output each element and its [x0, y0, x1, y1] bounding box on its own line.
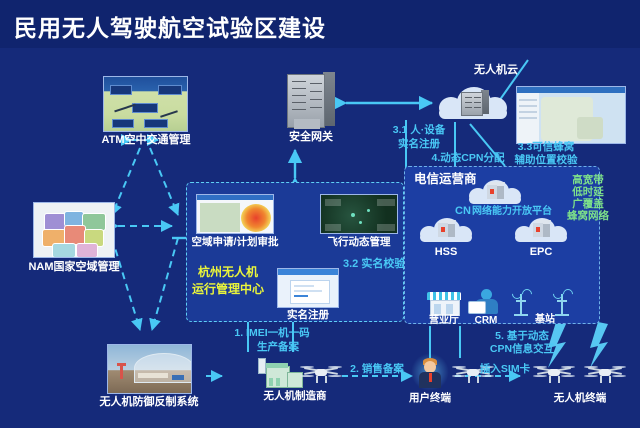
label-flight-dynamic: 飞行动态管理: [328, 236, 391, 248]
airspace-apply-thumbnail: [196, 194, 274, 234]
diagram-canvas: 民用无人驾驶航空试验区建设: [0, 0, 640, 428]
flight-dynamic-thumbnail: [320, 194, 398, 234]
label-feature-2: 低时延: [572, 186, 604, 198]
page-title: 民用无人驾驶航空试验区建设: [14, 9, 326, 43]
label-step-4: 4.动态CPN分配: [432, 152, 505, 164]
label-defense: 无人机防御反制系统: [100, 396, 199, 409]
label-feature-4: 蜂窝网络: [567, 210, 609, 222]
user-terminal-icon: [414, 356, 446, 388]
base-station-icon-2: [549, 288, 575, 316]
label-drone-cloud: 无人机云: [474, 64, 518, 77]
label-feature-3: 广覆盖: [572, 198, 604, 210]
label-sim: 插入SIM卡: [480, 363, 530, 375]
label-nam: NAM国家空域管理: [28, 261, 119, 274]
label-epc: EPC: [530, 246, 553, 259]
real-name-register-thumbnail: [277, 268, 339, 308]
label-center-line2: 运行管理中心: [192, 283, 264, 297]
label-airspace-apply: 空域申请/计划审批: [192, 236, 279, 248]
label-gateway: 安全网关: [289, 131, 333, 144]
drone-icon-1: [300, 362, 342, 384]
label-step-3-3-line2: 辅助位置校验: [515, 154, 578, 166]
drone-cloud-icon: [437, 83, 509, 121]
label-operator: 电信运营商: [414, 172, 477, 186]
epc-cloud-icon: [515, 216, 567, 244]
crm-icon: [468, 289, 502, 314]
label-step-2: 2. 销售备案: [350, 363, 404, 375]
base-station-icon-1: [508, 288, 534, 316]
cn-platform-cloud-icon: [469, 178, 521, 206]
label-user-terminal: 用户终端: [409, 392, 451, 404]
drone-icon-3: [533, 362, 575, 384]
label-base-station: 基站: [535, 314, 555, 326]
security-gateway-icon: [283, 68, 339, 130]
label-business-hall: 营业厅: [429, 315, 459, 327]
defense-thumbnail: [107, 344, 192, 394]
label-step-3-3-line1: 3.3可信蜂窝: [518, 141, 575, 153]
hss-cloud-icon: [420, 216, 472, 244]
label-step-3-2: 3.2 实名校验: [343, 258, 405, 271]
label-feature-1: 高宽带: [572, 174, 604, 186]
nam-thumbnail: [33, 202, 115, 258]
atm-thumbnail: [103, 76, 188, 132]
label-crm: CRM: [475, 315, 498, 327]
label-step-3-1-line2: 实名注册: [398, 138, 440, 150]
drone-cloud-map-thumbnail: [516, 86, 626, 144]
label-step-5-line2: CPN信息交互: [490, 343, 554, 355]
label-drone-terminal: 无人机终端: [554, 392, 607, 404]
label-step-1-line1: 1. IMEI一机一码: [234, 327, 309, 339]
label-hss: HSS: [435, 246, 458, 259]
label-step-1-line2: 生产备案: [257, 341, 299, 353]
drone-icon-4: [584, 362, 626, 384]
label-manufacturer: 无人机制造商: [264, 390, 327, 402]
label-atm: ATM空中交通管理: [101, 134, 190, 147]
manufacturer-icon: [254, 358, 302, 386]
label-real-name-register: 实名注册: [287, 309, 329, 321]
business-hall-icon: [427, 292, 461, 314]
label-step-5-line1: 5. 基于动态: [495, 330, 549, 342]
label-step-3-1-line1: 3.1 人·设备: [393, 124, 446, 136]
title-bar: 民用无人驾驶航空试验区建设: [0, 0, 640, 48]
label-center-line1: 杭州无人机: [198, 266, 258, 280]
